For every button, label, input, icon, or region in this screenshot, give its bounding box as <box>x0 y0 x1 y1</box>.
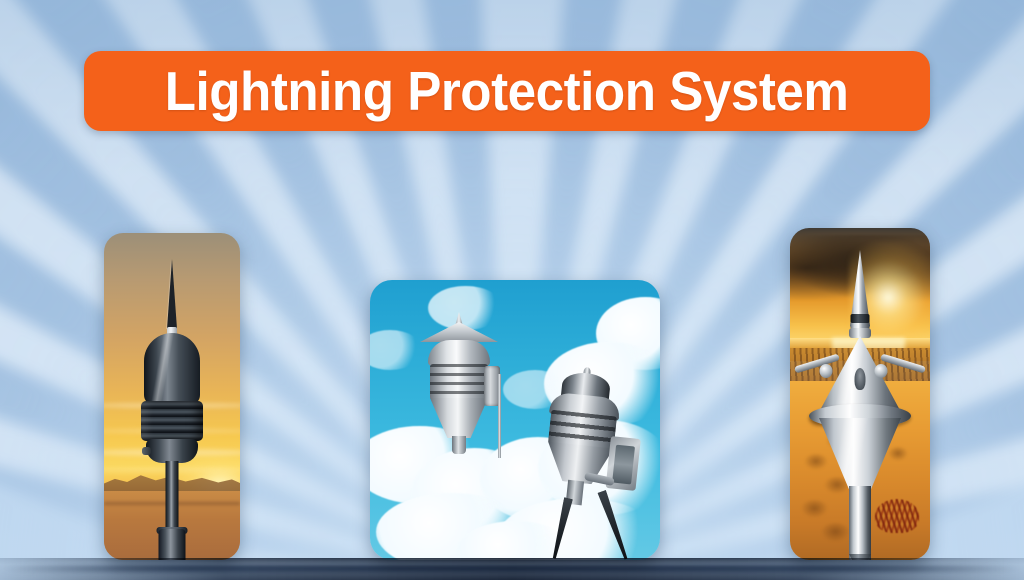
product-card-right[interactable] <box>790 228 930 560</box>
beach-sunset-scene <box>790 228 930 560</box>
arrester-knob-left <box>820 364 833 378</box>
spike-band <box>851 314 870 323</box>
arrester-shaft <box>849 486 871 560</box>
bottom-shadow-line <box>0 565 1024 572</box>
rod-dome <box>144 333 200 405</box>
rod-mounting-socket <box>159 529 186 560</box>
rod-side-connector <box>142 447 151 455</box>
title-banner: Lightning Protection System <box>84 51 930 131</box>
bottom-shadow-strip <box>0 558 1024 580</box>
rod-finned-section <box>141 401 203 441</box>
lightning-rod-spike-icon <box>167 259 177 329</box>
lightning-arrester-lower <box>520 360 660 560</box>
arrester-dome <box>428 340 490 366</box>
lightning-arrester-upper <box>416 308 502 458</box>
arrester-knob-right <box>875 364 888 378</box>
product-card-center[interactable] <box>370 280 660 560</box>
page-title: Lightning Protection System <box>165 64 849 119</box>
rod-base-housing <box>146 439 198 463</box>
arrester-stem <box>452 436 466 454</box>
arrester-banded-body <box>430 364 488 400</box>
desert-sunset-scene <box>104 233 240 560</box>
arrester-leg <box>550 497 573 559</box>
arrester-side-rod <box>498 374 501 458</box>
arrester-emblem <box>855 368 866 390</box>
dry-shrub <box>875 499 919 533</box>
arrester-cap <box>420 322 498 342</box>
product-card-left[interactable] <box>104 233 240 560</box>
arrester-cone <box>430 398 488 438</box>
footprint <box>804 454 828 470</box>
cloudy-sky-scene <box>370 280 660 560</box>
arrester-module-face <box>612 445 635 485</box>
arrester-leg <box>597 490 630 560</box>
poster-canvas: Lightning Protection System <box>0 0 1024 580</box>
